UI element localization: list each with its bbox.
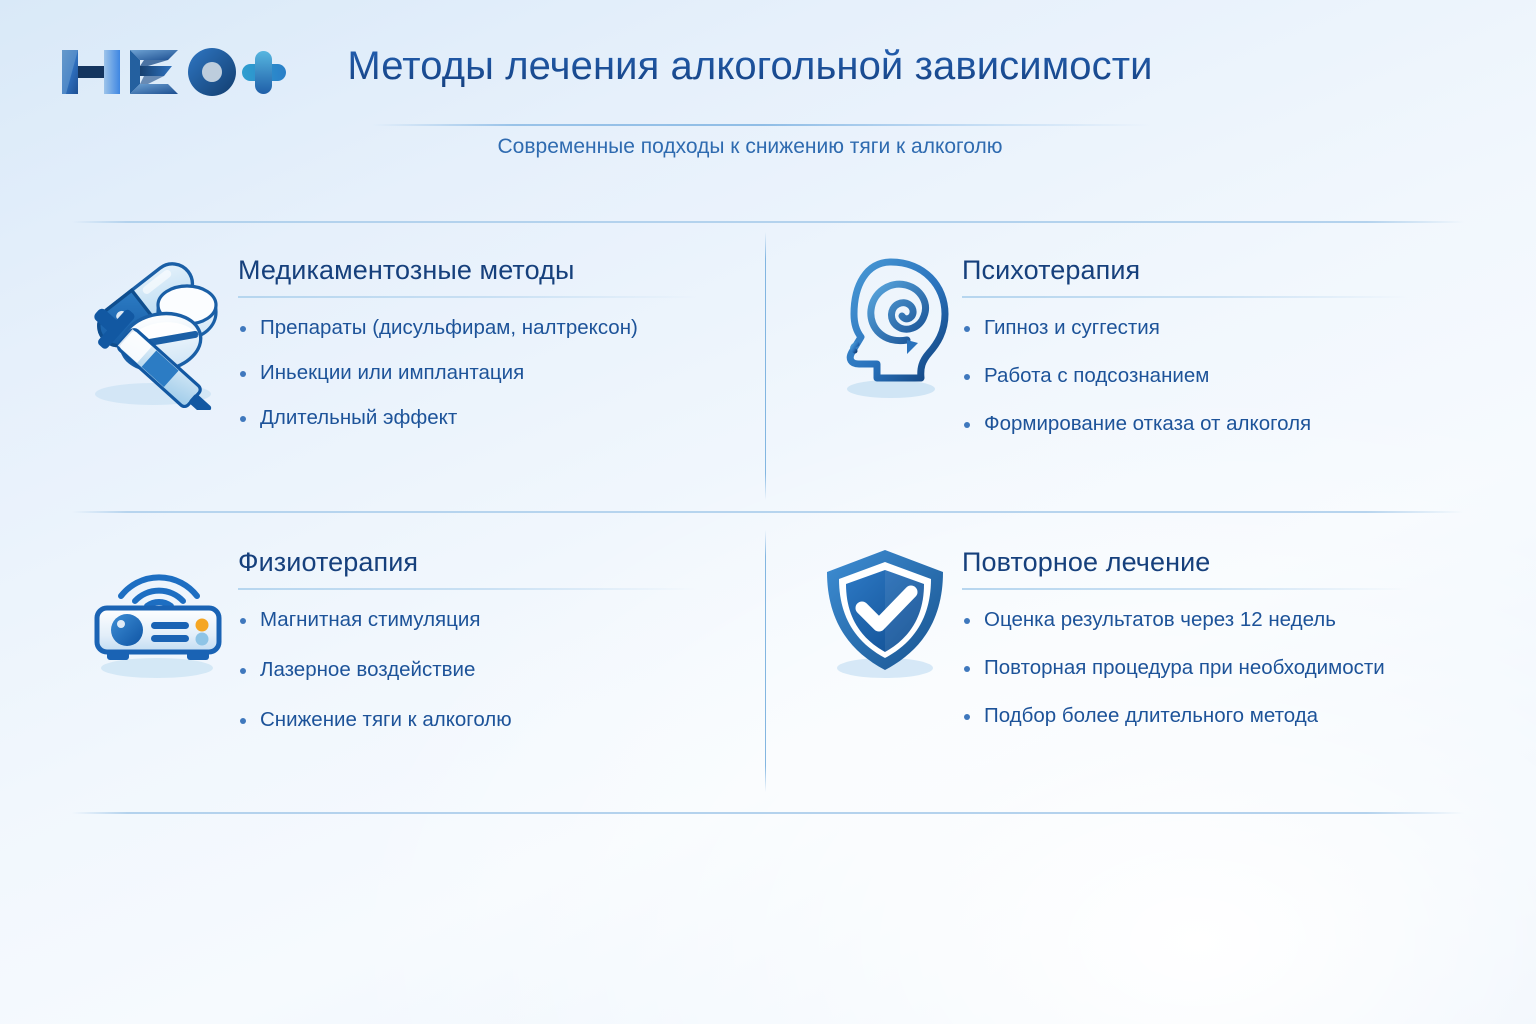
pills-syringe-icon [78,248,238,413]
card-bullet-list: Гипноз и суггестия Работа с подсознанием… [962,316,1472,437]
title-divider [372,124,1152,126]
list-item: Иньекции или имплантация [238,361,748,385]
page-title: Методы лечения алкогольной зависимости [300,44,1200,89]
card-medikamentoznye-metody: Медикаментозные методы Препараты (дисуль… [78,248,748,430]
list-item: Препараты (дисульфирам, налтрексон) [238,316,748,340]
card-psihoterapiya: Психотерапия Гипноз и суггестия Работа с… [812,248,1472,460]
card-title: Повторное лечение [962,548,1472,578]
list-item: Работа с подсознанием [962,364,1472,388]
card-title-divider [962,588,1410,590]
list-item: Гипноз и суггестия [962,316,1472,340]
card-title-divider [238,588,696,590]
list-item: Длительный эффект [238,406,748,430]
list-item: Оценка результатов через 12 недель [962,608,1472,632]
card-body: Психотерапия Гипноз и суггестия Работа с… [962,248,1472,460]
grid-bottom-divider [72,812,1464,814]
grid-vertical-divider-top [765,232,766,500]
therapy-device-icon [78,540,238,690]
grid-vertical-divider-bottom [765,530,766,792]
head-spiral-icon [812,248,962,413]
card-body: Повторное лечение Оценка результатов чер… [962,540,1472,752]
card-povtornoe-lechenie: Повторное лечение Оценка результатов чер… [812,540,1472,752]
list-item: Лазерное воздействие [238,658,748,682]
card-bullet-list: Оценка результатов через 12 недель Повто… [962,608,1472,729]
shield-check-icon [812,540,962,690]
card-body: Медикаментозные методы Препараты (дисуль… [238,248,748,430]
list-item: Снижение тяги к алкоголю [238,708,748,732]
card-bullet-list: Препараты (дисульфирам, налтрексон) Инье… [238,316,748,431]
list-item: Формирование отказа от алкоголя [962,412,1472,436]
card-body: Физиотерапия Магнитная стимуляция Лазерн… [238,540,748,758]
card-fizioterapiya: Физиотерапия Магнитная стимуляция Лазерн… [78,540,748,758]
card-title: Физиотерапия [238,548,748,578]
list-item: Подбор более длительного метода [962,704,1472,728]
page-subtitle: Современные подходы к снижению тяги к ал… [300,135,1200,159]
header: Методы лечения алкогольной зависимости С… [0,0,1536,200]
list-item: Повторная процедура при необходимости [962,656,1472,680]
card-bullet-list: Магнитная стимуляция Лазерное воздействи… [238,608,748,733]
card-title: Медикаментозные методы [238,256,748,286]
list-item: Магнитная стимуляция [238,608,748,632]
neo-plus-logo [56,38,288,104]
grid-middle-divider [72,511,1464,513]
grid-top-divider [72,221,1464,223]
card-title-divider [238,296,696,298]
card-title-divider [962,296,1410,298]
infographic-page: Методы лечения алкогольной зависимости С… [0,0,1536,1024]
card-title: Психотерапия [962,256,1472,286]
